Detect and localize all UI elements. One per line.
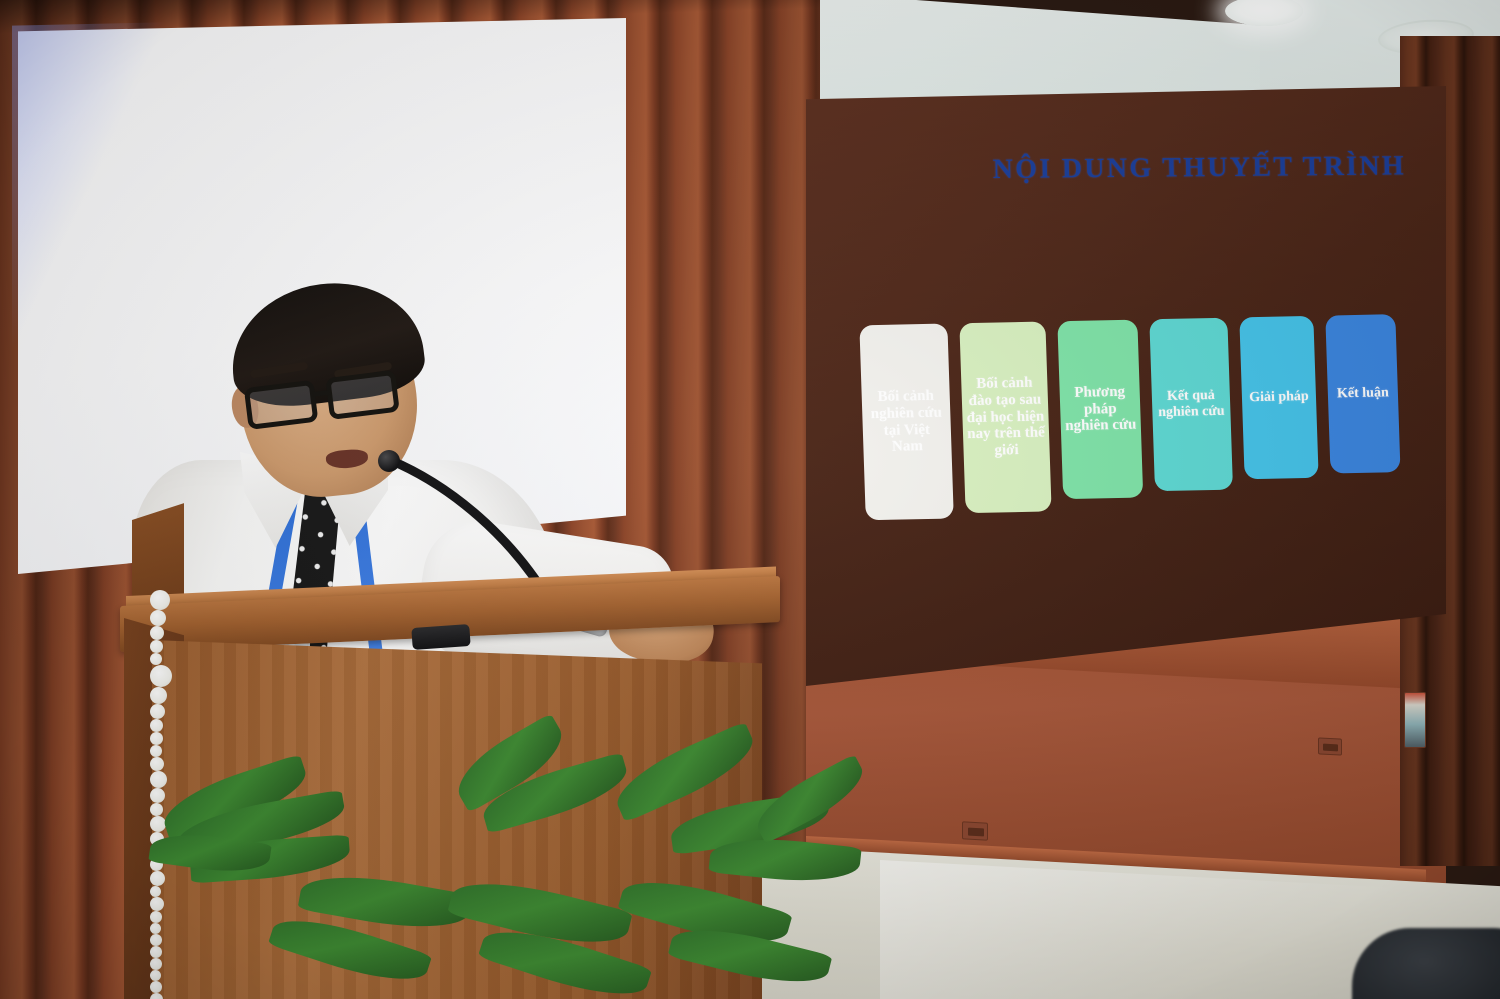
slide-box-5: Giải pháp [1239,316,1318,479]
wall-control-panel [1404,692,1426,748]
slide-box-2: Bối cảnh đào tạo sau đại học hiện nay tr… [959,321,1051,513]
white-filler-flower [150,665,172,687]
white-filler-flower [150,970,161,981]
slide-box-6: Kết luận [1325,314,1400,473]
white-filler-flower [150,897,164,911]
white-filler-flower [150,757,164,771]
slide-box-4: Kết quả nghiên cứu [1149,318,1233,492]
slide-box-label: Kết luận [1337,385,1389,402]
slide-box-label: Kết quả nghiên cứu [1156,388,1227,421]
white-filler-flower [150,911,162,923]
glasses-lens [325,370,400,420]
microphone-capsule-icon [378,450,400,472]
slide-box-label: Giải pháp [1249,389,1309,406]
slide-box-label: Bối cảnh nghiên cứu tại Việt Nam [865,387,947,456]
white-filler-flower [150,934,162,946]
white-filler-flower [150,745,162,757]
photo-scene: NỘI DUNG THUYẾT TRÌNH Bối cảnh nghiên cứ… [0,0,1500,999]
slide-box-row: Bối cảnh nghiên cứu tại Việt NamBối cảnh… [859,314,1426,536]
slide-box-1: Bối cảnh nghiên cứu tại Việt Nam [859,324,953,521]
white-filler-flower [150,653,162,665]
white-filler-flower [150,886,161,897]
glasses-lens [244,380,319,430]
slide-box-3: Phương pháp nghiên cứu [1057,320,1143,500]
white-filler-flower [150,704,165,719]
white-filler-flower [150,871,165,886]
white-filler-flower [150,958,162,970]
floral-arrangement [150,590,890,999]
white-filler-flower [150,803,163,816]
white-filler-flower [150,993,163,999]
white-filler-flower [150,719,163,732]
white-filler-flower [150,687,167,704]
white-filler-flower [150,590,170,610]
white-filler-flower [150,640,163,653]
white-filler-flower [150,771,167,788]
white-filler-flower [150,610,166,626]
chair [1352,928,1500,999]
slide-box-label: Bối cảnh đào tạo sau đại học hiện nay tr… [965,375,1046,461]
slide-box-label: Phương pháp nghiên cứu [1063,383,1137,435]
wall-outlet-icon [962,821,988,840]
white-filler-flower [150,732,163,745]
presentation-slide: NỘI DUNG THUYẾT TRÌNH Bối cảnh nghiên cứ… [828,92,1438,644]
white-filler-flower [150,788,165,803]
slide-title: NỘI DUNG THUYẾT TRÌNH [984,150,1415,186]
white-filler-flower [150,981,162,993]
wall-outlet-icon [1318,737,1342,755]
white-filler-flower [150,946,162,958]
white-filler-flower [150,923,161,934]
white-filler-flower [150,626,164,640]
